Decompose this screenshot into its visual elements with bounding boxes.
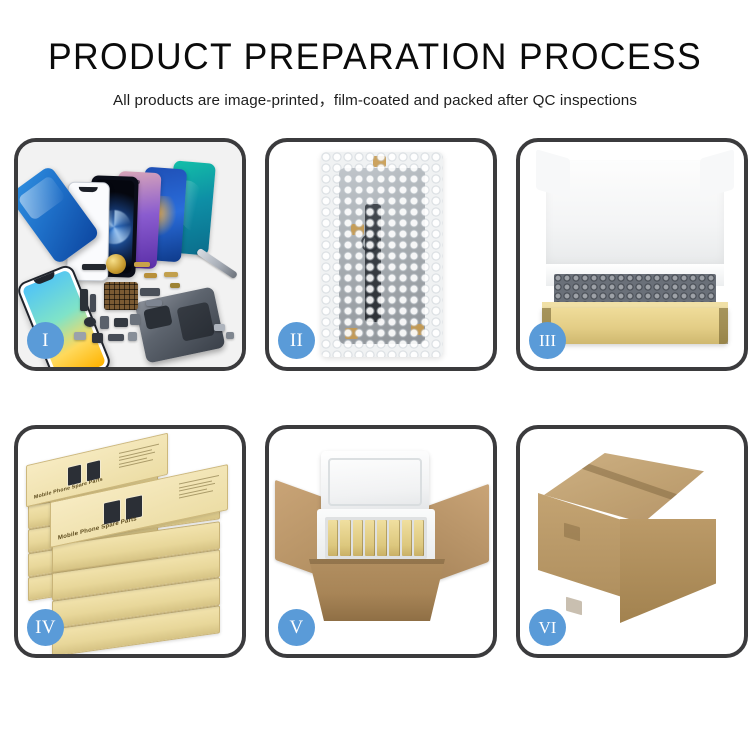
step-badge-5: V — [278, 609, 315, 646]
process-step-grid: I II — [14, 138, 736, 658]
lid-spec-lines — [119, 444, 159, 471]
spare-part — [146, 300, 162, 306]
spare-part — [226, 332, 234, 339]
spare-part — [114, 318, 128, 327]
spare-part — [128, 332, 137, 341]
spare-part — [100, 316, 109, 329]
gold-coil-part — [106, 254, 126, 274]
step-badge-2: II — [278, 322, 315, 359]
spare-part — [134, 262, 150, 267]
process-step-6: VI — [516, 425, 748, 658]
spare-part — [130, 314, 140, 325]
spare-part — [92, 333, 103, 343]
spare-part — [214, 324, 225, 331]
spare-part — [170, 283, 180, 288]
foam-lid — [321, 451, 429, 513]
process-step-2: II — [265, 138, 497, 371]
bubble-wrap-bag — [321, 152, 443, 357]
spare-part — [84, 317, 96, 327]
carton-tab — [566, 597, 582, 616]
process-step-3: III — [516, 138, 748, 371]
spare-part — [80, 289, 88, 311]
product-preparation-infographic: PRODUCT PREPARATION PROCESS All products… — [0, 0, 750, 750]
spare-part — [144, 273, 157, 278]
process-step-4: Mobile Phone Spare Parts Mo — [14, 425, 246, 658]
bubble-texture — [321, 152, 443, 357]
header: PRODUCT PREPARATION PROCESS All products… — [0, 0, 750, 110]
carton-right-face — [620, 519, 716, 623]
screwdriver-tool — [196, 248, 238, 280]
phone-back-housing — [134, 286, 225, 363]
kraft-box-front — [542, 308, 728, 344]
page-title: PRODUCT PREPARATION PROCESS — [15, 38, 735, 75]
spare-part — [90, 294, 96, 312]
process-step-1: I — [14, 138, 246, 371]
lid-spec-lines — [179, 475, 219, 501]
spare-part — [108, 334, 124, 341]
chip-grid-part — [104, 282, 138, 310]
spare-part — [140, 288, 160, 296]
spare-part — [74, 332, 86, 340]
step-badge-4: IV — [27, 609, 64, 646]
spare-part — [82, 264, 106, 270]
box-lid-open — [546, 160, 724, 270]
packed-yellow-boxes — [325, 517, 427, 559]
shipping-carton-open — [309, 559, 445, 621]
step-badge-3: III — [529, 322, 566, 359]
process-step-5: V — [265, 425, 497, 658]
spare-part — [164, 272, 178, 277]
step-badge-1: I — [27, 322, 64, 359]
step-badge-6: VI — [529, 609, 566, 646]
page-subtitle: All products are image-printed，film-coat… — [0, 88, 750, 110]
